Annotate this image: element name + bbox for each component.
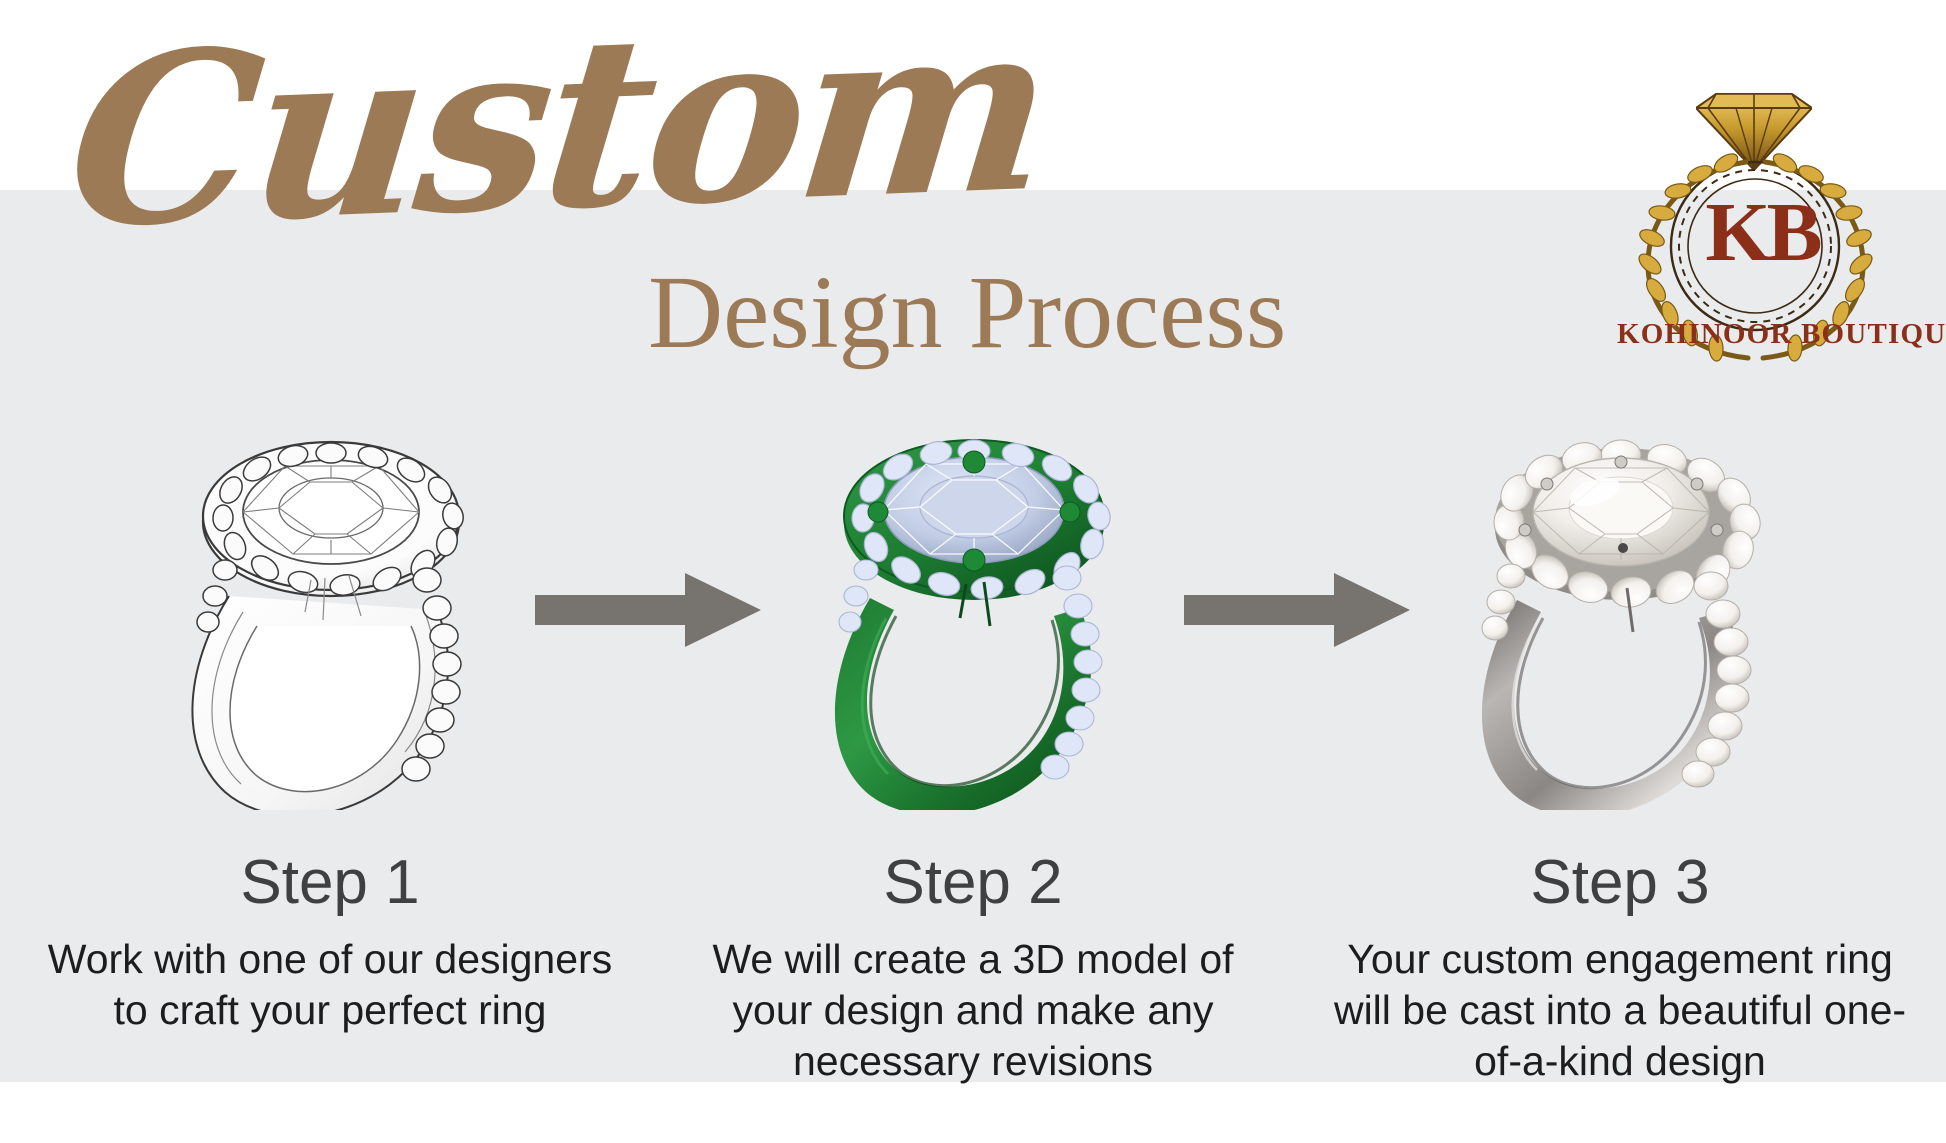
step-column-3: Step 3 Your custom engagement ring will … [1310,420,1930,1060]
logo-monogram: KB [1617,173,1907,293]
page-title-script: Custom [58,0,990,278]
step-column-2: Step 2 We will create a 3D model of your… [663,420,1283,1060]
step-column-1: Step 1 Work with one of our designers to… [20,420,640,1060]
step-2-description: We will create a 3D model of your design… [663,934,1283,1087]
step-2-title: Step 2 [663,848,1283,918]
step-3-image-slot [1310,420,1930,820]
page-subtitle: Design Process [648,258,1348,368]
step-3-description: Your custom engagement ring will be cast… [1310,934,1930,1087]
step-3-title: Step 3 [1310,848,1930,918]
custom-design-process-banner: Custom Design Process [0,0,1946,1143]
ring-sketch-line-art [165,420,495,815]
brand-logo[interactable]: KB KOHINOOR BOUTIQUE [1617,78,1907,378]
step-1-image-slot [20,420,640,820]
step-1-title: Step 1 [20,848,640,918]
steps-row: Step 1 Work with one of our designers to… [0,420,1946,1060]
ring-3d-cad-model-green [808,420,1138,815]
ring-finished-photo-white-gold [1455,420,1785,815]
step-1-description: Work with one of our designers to craft … [20,934,640,1036]
logo-wordmark: KOHINOOR BOUTIQUE [1617,318,1907,351]
step-2-image-slot [663,420,1283,820]
